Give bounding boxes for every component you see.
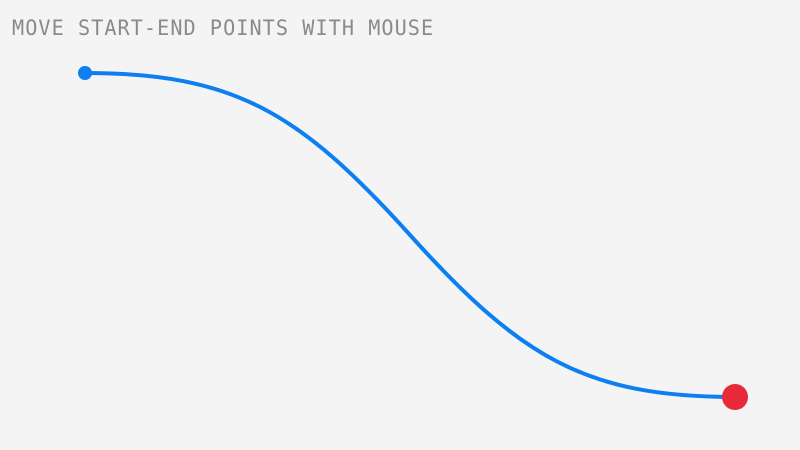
start-point-handle[interactable] bbox=[78, 66, 92, 80]
curve-svg bbox=[0, 0, 800, 450]
end-point-handle[interactable] bbox=[722, 384, 748, 410]
page-title: MOVE START-END POINTS WITH MOUSE bbox=[12, 16, 434, 40]
bezier-curve-canvas[interactable]: MOVE START-END POINTS WITH MOUSE bbox=[0, 0, 800, 450]
bezier-curve-path bbox=[85, 73, 735, 397]
app-root: MOVE START-END POINTS WITH MOUSE bbox=[0, 0, 800, 450]
